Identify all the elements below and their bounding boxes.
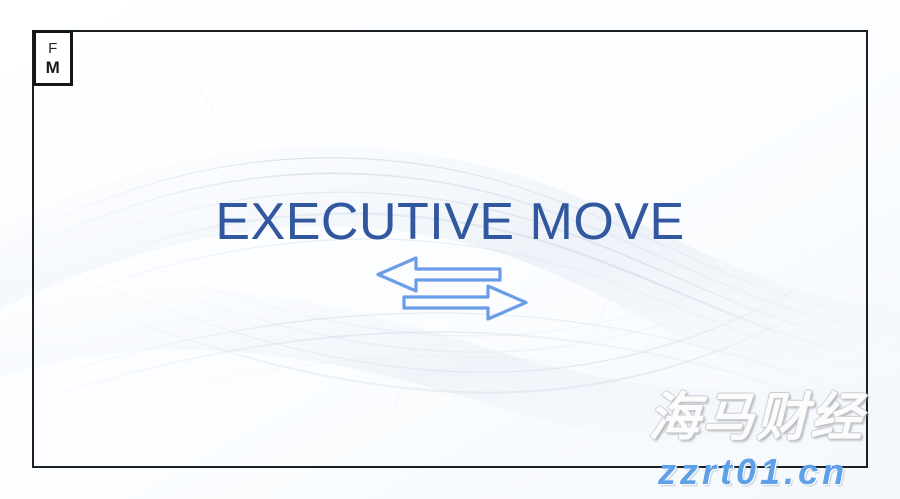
logo-letter-f: F [48,41,58,56]
two-way-exchange-arrows-icon [372,256,532,340]
slide-canvas: F M EXECUTIVE MOVE 海马财经 zzrt01.cn [0,0,900,499]
logo-letter-m: M [46,59,61,76]
page-title: EXECUTIVE MOVE [0,192,900,252]
fm-logo-badge: F M [33,30,73,86]
